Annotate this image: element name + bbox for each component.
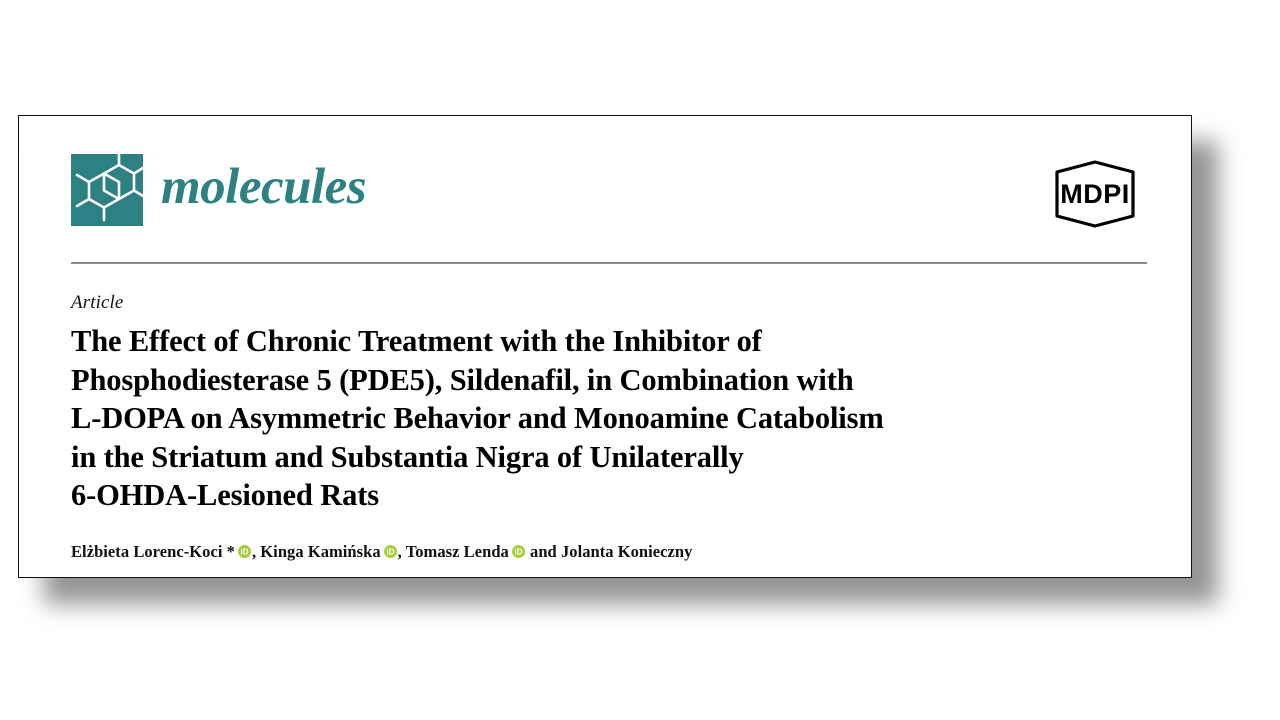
author-separator: and <box>526 542 561 561</box>
article-head: Article The Effect of Chronic Treatment … <box>71 292 1147 563</box>
article-type-label: Article <box>71 292 1147 314</box>
svg-text:iD: iD <box>514 547 522 556</box>
svg-text:MDPI: MDPI <box>1060 179 1130 209</box>
author-name[interactable]: Elżbieta Lorenc-Koci * <box>71 542 235 561</box>
journal-brand[interactable]: molecules <box>71 154 366 226</box>
author-name[interactable]: Jolanta Konieczny <box>561 542 692 561</box>
author-separator: , <box>398 542 406 561</box>
article-title: The Effect of Chronic Treatment with the… <box>71 322 1141 515</box>
masthead-divider <box>71 262 1147 264</box>
svg-text:iD: iD <box>240 547 248 556</box>
article-title-line: The Effect of Chronic Treatment with the… <box>71 324 762 358</box>
article-title-line: in the Striatum and Substantia Nigra of … <box>71 440 744 474</box>
article-header-card: molecules MDPI Article The Effect of Chr… <box>18 115 1192 578</box>
orcid-icon[interactable]: iD <box>238 545 251 558</box>
author-name[interactable]: Tomasz Lenda <box>406 542 509 561</box>
svg-text:iD: iD <box>386 547 394 556</box>
page-background: molecules MDPI Article The Effect of Chr… <box>0 0 1280 720</box>
author-list: Elżbieta Lorenc-Koci *iD, Kinga Kamińska… <box>71 541 1147 563</box>
article-title-line: L-DOPA on Asymmetric Behavior and Monoam… <box>71 401 884 435</box>
journal-masthead: molecules MDPI <box>71 144 1147 234</box>
article-title-line: Phosphodiesterase 5 (PDE5), Sildenafil, … <box>71 363 854 397</box>
article-title-line: 6-OHDA-Lesioned Rats <box>71 478 379 512</box>
orcid-icon[interactable]: iD <box>512 545 525 558</box>
orcid-icon[interactable]: iD <box>384 545 397 558</box>
mdpi-logo-icon[interactable]: MDPI <box>1043 160 1147 228</box>
author-name[interactable]: Kinga Kamińska <box>260 542 380 561</box>
molecules-hexagon-logo-icon <box>71 154 143 226</box>
card-content: molecules MDPI Article The Effect of Chr… <box>71 144 1147 567</box>
journal-wordmark: molecules <box>161 162 366 219</box>
